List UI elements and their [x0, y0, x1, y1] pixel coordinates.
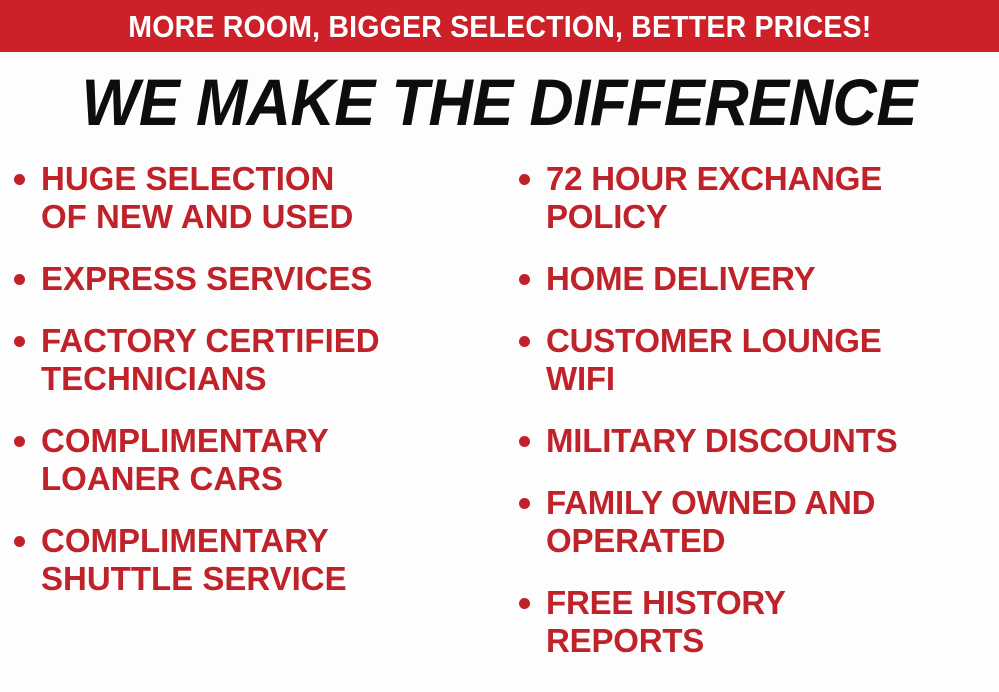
list-item-label: COMPLIMENTARY LOANER CARS — [41, 422, 329, 498]
list-item-label: CUSTOMER LOUNGE WIFI — [546, 322, 882, 398]
list-item: COMPLIMENTARY SHUTTLE SERVICE — [14, 522, 505, 598]
list-item: FAMILY OWNED AND OPERATED — [519, 484, 999, 560]
top-banner: MORE ROOM, BIGGER SELECTION, BETTER PRIC… — [0, 0, 999, 52]
benefits-column-right: 72 HOUR EXCHANGE POLICY HOME DELIVERY CU… — [505, 160, 999, 684]
bullet-dot-icon — [519, 274, 530, 285]
bullet-dot-icon — [14, 174, 25, 185]
promotional-poster: MORE ROOM, BIGGER SELECTION, BETTER PRIC… — [0, 0, 999, 692]
bullet-dot-icon — [14, 274, 25, 285]
list-item: CUSTOMER LOUNGE WIFI — [519, 322, 999, 398]
bullet-dot-icon — [14, 436, 25, 447]
bullet-dot-icon — [519, 598, 530, 609]
page-title: WE MAKE THE DIFFERENCE — [82, 69, 917, 135]
list-item: COMPLIMENTARY LOANER CARS — [14, 422, 505, 498]
list-item-label: FREE HISTORY REPORTS — [546, 584, 786, 660]
bullet-dot-icon — [519, 174, 530, 185]
benefits-column-left: HUGE SELECTION OF NEW AND USED EXPRESS S… — [0, 160, 505, 622]
bullet-dot-icon — [14, 536, 25, 547]
banner-headline-text: MORE ROOM, BIGGER SELECTION, BETTER PRIC… — [128, 11, 871, 42]
bullet-dot-icon — [519, 436, 530, 447]
bullet-dot-icon — [519, 336, 530, 347]
main-headline-area: WE MAKE THE DIFFERENCE — [0, 62, 999, 142]
benefits-columns: HUGE SELECTION OF NEW AND USED EXPRESS S… — [0, 160, 999, 692]
list-item: HOME DELIVERY — [519, 260, 999, 298]
list-item-label: MILITARY DISCOUNTS — [546, 422, 897, 460]
list-item-label: 72 HOUR EXCHANGE POLICY — [546, 160, 882, 236]
list-item-label: HUGE SELECTION OF NEW AND USED — [41, 160, 353, 236]
list-item: HUGE SELECTION OF NEW AND USED — [14, 160, 505, 236]
list-item-label: FACTORY CERTIFIED TECHNICIANS — [41, 322, 380, 398]
list-item: FREE HISTORY REPORTS — [519, 584, 999, 660]
list-item: EXPRESS SERVICES — [14, 260, 505, 298]
list-item-label: HOME DELIVERY — [546, 260, 815, 298]
list-item-label: EXPRESS SERVICES — [41, 260, 372, 298]
list-item: FACTORY CERTIFIED TECHNICIANS — [14, 322, 505, 398]
bullet-dot-icon — [14, 336, 25, 347]
bullet-dot-icon — [519, 498, 530, 509]
list-item-label: COMPLIMENTARY SHUTTLE SERVICE — [41, 522, 347, 598]
list-item-label: FAMILY OWNED AND OPERATED — [546, 484, 875, 560]
list-item: MILITARY DISCOUNTS — [519, 422, 999, 460]
list-item: 72 HOUR EXCHANGE POLICY — [519, 160, 999, 236]
